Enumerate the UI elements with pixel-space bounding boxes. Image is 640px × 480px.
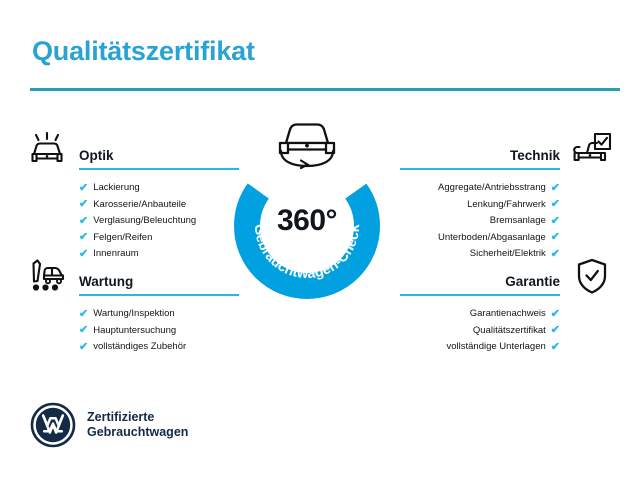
badge-360-gebrauchtwagen-check: Gebrauchtwagen-Check 360° xyxy=(233,152,381,300)
section-title-wrap-garantie: Garantie xyxy=(400,256,569,296)
title-divider xyxy=(30,88,620,91)
certificate-page: Qualitätszertifikat xyxy=(0,0,640,480)
section-title-wrap-wartung: Wartung xyxy=(70,256,239,296)
list-item-label: Unterboden/Abgasanlage xyxy=(438,230,546,247)
check-icon: ✔ xyxy=(79,232,88,243)
list-item: Qualitätszertifikat✔ xyxy=(400,323,560,340)
section-header-wartung: Wartung xyxy=(24,256,239,296)
check-icon: ✔ xyxy=(551,342,560,353)
section-header-optik: Optik xyxy=(24,130,239,170)
list-item: ✔Lackierung xyxy=(79,180,239,197)
section-header-technik: Technik xyxy=(400,130,615,170)
list-item-label: Hauptuntersuchung xyxy=(93,323,176,340)
footer-line-2: Gebrauchtwagen xyxy=(87,425,188,441)
vw-logo xyxy=(30,402,76,448)
list-item-label: vollständige Unterlagen xyxy=(446,339,545,356)
car-rotate-icon xyxy=(268,116,346,170)
check-icon: ✔ xyxy=(551,232,560,243)
list-item: Garantienachweis✔ xyxy=(400,306,560,323)
section-title-garantie: Garantie xyxy=(505,274,560,289)
check-icon: ✔ xyxy=(551,183,560,194)
section-technik: Technik Aggr xyxy=(400,130,615,263)
section-title-wrap-technik: Technik xyxy=(400,130,569,170)
list-item: ✔Hauptuntersuchung xyxy=(79,323,239,340)
check-icon: ✔ xyxy=(79,342,88,353)
check-icon: ✔ xyxy=(79,199,88,210)
car-checkbox-icon xyxy=(569,130,615,170)
section-title-technik: Technik xyxy=(510,148,560,163)
list-item-label: Wartung/Inspektion xyxy=(93,306,175,323)
sparkling-car-icon xyxy=(24,130,70,170)
section-title-wartung: Wartung xyxy=(79,274,239,289)
section-underline-technik xyxy=(400,168,560,170)
list-item-label: Karosserie/Anbauteile xyxy=(93,197,186,214)
list-item: vollständige Unterlagen✔ xyxy=(400,339,560,356)
wrench-car-icon xyxy=(24,256,70,296)
list-item-label: Felgen/Reifen xyxy=(93,230,152,247)
list-item: ✔vollständiges Zubehör xyxy=(79,339,239,356)
shield-check-icon xyxy=(569,256,615,296)
section-title-optik: Optik xyxy=(79,148,239,163)
check-icon: ✔ xyxy=(79,309,88,320)
footer-line-1: Zertifizierte xyxy=(87,410,188,426)
check-icon: ✔ xyxy=(79,183,88,194)
section-wartung: Wartung ✔Wartung/Inspektion ✔Hauptunters… xyxy=(24,256,239,356)
check-icon: ✔ xyxy=(551,325,560,336)
list-item: Unterboden/Abgasanlage✔ xyxy=(400,230,560,247)
list-item-label: Qualitätszertifikat xyxy=(473,323,546,340)
check-icon: ✔ xyxy=(551,309,560,320)
check-icon: ✔ xyxy=(551,199,560,210)
list-item: ✔Karosserie/Anbauteile xyxy=(79,197,239,214)
badge-number: 360° xyxy=(233,204,381,238)
checklist-garantie: Garantienachweis✔ Qualitätszertifikat✔ v… xyxy=(400,306,615,356)
section-underline-wartung xyxy=(79,294,239,296)
section-underline-optik xyxy=(79,168,239,170)
page-title: Qualitätszertifikat xyxy=(32,36,255,67)
list-item-label: Aggregate/Antriebsstrang xyxy=(438,180,546,197)
check-icon: ✔ xyxy=(79,325,88,336)
list-item-label: Lenkung/Fahrwerk xyxy=(467,197,546,214)
list-item-label: Lackierung xyxy=(93,180,139,197)
list-item: ✔Verglasung/Beleuchtung xyxy=(79,213,239,230)
list-item: ✔Wartung/Inspektion xyxy=(79,306,239,323)
list-item: ✔Felgen/Reifen xyxy=(79,230,239,247)
list-item: Aggregate/Antriebsstrang✔ xyxy=(400,180,560,197)
section-underline-garantie xyxy=(400,294,560,296)
list-item: Lenkung/Fahrwerk✔ xyxy=(400,197,560,214)
check-icon: ✔ xyxy=(551,216,560,227)
checklist-wartung: ✔Wartung/Inspektion ✔Hauptuntersuchung ✔… xyxy=(24,306,239,356)
check-icon: ✔ xyxy=(79,216,88,227)
section-optik: Optik ✔Lackierung ✔Karosserie/Anbauteile… xyxy=(24,130,239,263)
section-title-wrap-optik: Optik xyxy=(70,130,239,170)
list-item-label: Garantienachweis xyxy=(470,306,546,323)
list-item-label: vollständiges Zubehör xyxy=(93,339,186,356)
footer-branding: Zertifizierte Gebrauchtwagen xyxy=(30,402,188,448)
list-item-label: Verglasung/Beleuchtung xyxy=(93,213,196,230)
section-header-garantie: Garantie xyxy=(400,256,615,296)
section-garantie: Garantie Garantienachweis✔ Qualitätszert… xyxy=(400,256,615,356)
list-item: Bremsanlage✔ xyxy=(400,213,560,230)
checklist-optik: ✔Lackierung ✔Karosserie/Anbauteile ✔Verg… xyxy=(24,180,239,263)
checklist-technik: Aggregate/Antriebsstrang✔ Lenkung/Fahrwe… xyxy=(400,180,615,263)
footer-text: Zertifizierte Gebrauchtwagen xyxy=(87,410,188,441)
list-item-label: Bremsanlage xyxy=(490,213,546,230)
